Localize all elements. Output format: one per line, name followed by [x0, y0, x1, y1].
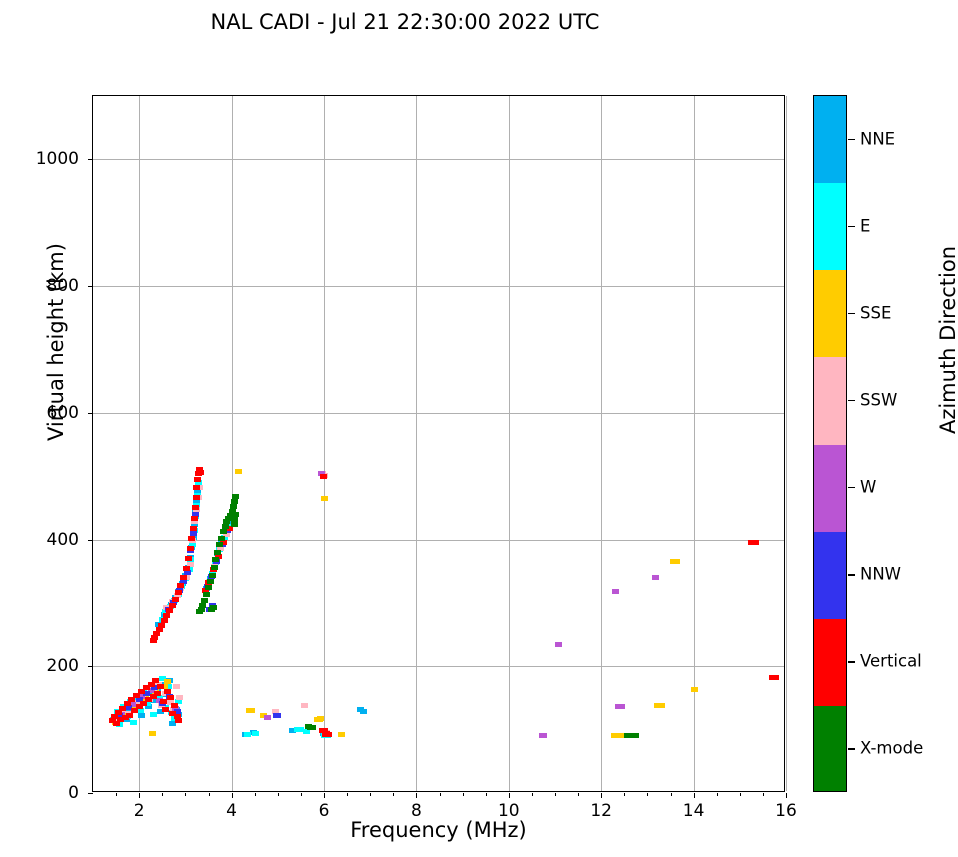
- data-point: [138, 689, 145, 694]
- colorbar-label-w: W: [860, 478, 876, 497]
- data-point: [193, 485, 200, 490]
- data-point: [227, 519, 234, 524]
- x-axis-minor-tick: [647, 793, 648, 796]
- colorbar-segment-vertical: [814, 619, 846, 706]
- data-point: [138, 694, 145, 699]
- data-point: [189, 538, 196, 543]
- data-point: [248, 708, 255, 713]
- data-point: [193, 498, 200, 503]
- data-point: [160, 699, 167, 704]
- x-axis-tick: [509, 793, 510, 798]
- data-point: [122, 713, 129, 718]
- gridline-vertical: [786, 96, 787, 791]
- data-point: [163, 605, 170, 610]
- data-point: [321, 473, 328, 478]
- data-point: [157, 684, 164, 689]
- data-point: [658, 703, 665, 708]
- data-point: [162, 609, 169, 614]
- x-axis-minor-tick: [463, 793, 464, 796]
- data-point: [628, 733, 635, 738]
- data-point: [151, 685, 158, 690]
- data-point: [133, 693, 140, 698]
- x-axis-minor-tick: [162, 793, 163, 796]
- data-point: [208, 607, 215, 612]
- data-point: [193, 495, 200, 500]
- data-point: [159, 617, 166, 622]
- data-point: [119, 706, 126, 711]
- data-point: [164, 679, 171, 684]
- colorbar-segment-w: [814, 445, 846, 532]
- data-point: [145, 697, 152, 702]
- data-point: [205, 585, 212, 590]
- data-point: [152, 689, 159, 694]
- x-axis-minor-tick: [486, 793, 487, 796]
- colorbar-tick: [848, 313, 855, 314]
- data-point: [252, 731, 259, 736]
- data-point: [224, 528, 231, 533]
- data-point: [187, 562, 194, 567]
- data-point: [177, 583, 184, 588]
- data-point: [124, 714, 131, 719]
- data-point: [197, 470, 204, 475]
- data-point: [274, 713, 281, 718]
- x-axis-minor-tick: [763, 793, 764, 796]
- data-point: [131, 708, 138, 713]
- data-point: [192, 505, 199, 510]
- data-point: [166, 694, 173, 699]
- data-point: [260, 713, 267, 718]
- data-point: [152, 678, 159, 683]
- data-point: [169, 603, 176, 608]
- data-point: [318, 471, 325, 476]
- data-point: [126, 711, 133, 716]
- data-point: [321, 728, 328, 733]
- data-point: [189, 542, 196, 547]
- data-point: [218, 536, 225, 541]
- data-point: [156, 627, 163, 632]
- data-point: [124, 701, 131, 706]
- data-point: [316, 717, 323, 722]
- data-point: [161, 684, 168, 689]
- data-point: [167, 695, 174, 700]
- gridline-vertical: [694, 96, 695, 791]
- data-point: [246, 708, 253, 713]
- data-point: [213, 559, 220, 564]
- data-point: [289, 728, 296, 733]
- plot-area: 24681012141602004006008001000: [92, 95, 785, 792]
- data-point: [117, 711, 124, 716]
- data-point: [223, 529, 230, 534]
- x-axis-minor-tick: [209, 793, 210, 796]
- data-point: [190, 531, 197, 536]
- x-axis-tick: [694, 793, 695, 798]
- data-point: [221, 535, 228, 540]
- data-point: [231, 499, 238, 504]
- data-point: [161, 612, 168, 617]
- data-point: [112, 720, 119, 725]
- x-axis-minor-tick: [301, 793, 302, 796]
- data-point: [187, 557, 194, 562]
- data-point: [338, 732, 345, 737]
- data-point: [691, 687, 698, 692]
- data-point: [320, 731, 327, 736]
- data-point: [322, 732, 329, 737]
- data-point: [129, 702, 136, 707]
- colorbar-tick: [848, 748, 855, 749]
- data-point: [186, 567, 193, 572]
- data-point: [220, 540, 227, 545]
- data-point: [769, 675, 776, 680]
- data-point: [158, 623, 165, 628]
- colorbar-segment-nnw: [814, 532, 846, 619]
- data-point: [185, 556, 192, 561]
- data-point: [177, 586, 184, 591]
- data-point: [168, 710, 175, 715]
- data-point: [150, 712, 157, 717]
- data-point: [319, 728, 326, 733]
- data-point: [209, 571, 216, 576]
- data-point: [175, 590, 182, 595]
- data-point: [180, 575, 187, 580]
- data-point: [191, 528, 198, 533]
- gridline-vertical: [509, 96, 510, 791]
- x-axis-minor-tick: [116, 793, 117, 796]
- data-point: [229, 509, 236, 514]
- data-point: [191, 519, 198, 524]
- data-point: [320, 728, 327, 733]
- y-axis-label: Virtual height (km): [44, 212, 68, 472]
- data-point: [208, 574, 215, 579]
- data-point: [125, 705, 132, 710]
- data-point: [164, 607, 171, 612]
- data-point: [153, 682, 160, 687]
- data-point: [217, 546, 224, 551]
- data-point: [155, 622, 162, 627]
- data-point: [214, 550, 221, 555]
- data-point: [264, 715, 271, 720]
- data-point: [325, 732, 332, 737]
- colorbar-tick: [848, 139, 855, 140]
- data-point: [187, 546, 194, 551]
- data-point: [150, 638, 157, 643]
- data-point: [272, 709, 279, 714]
- data-point: [141, 694, 148, 699]
- colorbar-label-e: E: [860, 216, 870, 235]
- data-point: [295, 727, 302, 732]
- data-point: [120, 704, 127, 709]
- data-point: [174, 593, 181, 598]
- x-axis-minor-tick: [717, 793, 718, 796]
- gridline-vertical: [232, 96, 233, 791]
- data-point: [615, 733, 622, 738]
- data-point: [207, 576, 214, 581]
- y-axis-tick-label: 200: [47, 656, 79, 676]
- data-point: [202, 588, 209, 593]
- data-point: [175, 712, 182, 717]
- data-point: [242, 732, 249, 737]
- x-axis-minor-tick: [185, 793, 186, 796]
- data-point: [175, 592, 182, 597]
- data-point: [232, 494, 239, 499]
- data-point: [196, 609, 203, 614]
- data-point: [624, 733, 631, 738]
- data-point: [116, 722, 123, 727]
- x-axis-minor-tick: [624, 793, 625, 796]
- data-point: [175, 699, 182, 704]
- grid-layer: [93, 96, 784, 791]
- data-point: [179, 581, 186, 586]
- data-point: [323, 732, 330, 737]
- data-point: [149, 731, 156, 736]
- data-point: [113, 715, 120, 720]
- data-point: [210, 567, 217, 572]
- x-axis-minor-tick: [440, 793, 441, 796]
- data-point: [297, 727, 304, 732]
- data-point: [182, 573, 189, 578]
- data-point: [555, 642, 562, 647]
- data-point: [207, 579, 214, 584]
- data-point: [196, 485, 203, 490]
- data-point: [188, 536, 195, 541]
- data-point: [612, 589, 619, 594]
- data-point: [139, 692, 146, 697]
- colorbar-title: Azimuth Direction: [936, 200, 958, 480]
- data-point: [138, 713, 145, 718]
- data-point: [294, 727, 301, 732]
- data-point: [188, 545, 195, 550]
- data-point: [176, 588, 183, 593]
- data-point: [157, 709, 164, 714]
- data-point: [611, 733, 618, 738]
- data-point: [314, 717, 321, 722]
- data-point: [171, 716, 178, 721]
- data-point: [163, 613, 170, 618]
- data-layer: [93, 96, 784, 791]
- colorbar-label-nne: NNE: [860, 129, 895, 148]
- data-point: [116, 713, 123, 718]
- data-point: [305, 724, 312, 729]
- data-point: [191, 516, 198, 521]
- data-point: [169, 711, 176, 716]
- data-point: [206, 607, 213, 612]
- data-point: [748, 540, 755, 545]
- data-point: [182, 576, 189, 581]
- data-point: [319, 471, 326, 476]
- data-point: [151, 635, 158, 640]
- data-point: [173, 707, 180, 712]
- data-point: [321, 728, 328, 733]
- data-point: [209, 573, 216, 578]
- data-point: [193, 503, 200, 508]
- data-point: [175, 589, 182, 594]
- colorbar-label-sse: SSE: [860, 303, 891, 322]
- data-point: [192, 514, 199, 519]
- data-point: [652, 575, 659, 580]
- data-point: [235, 469, 242, 474]
- data-point: [670, 559, 677, 564]
- gridline-horizontal: [93, 666, 784, 667]
- data-point: [148, 682, 155, 687]
- data-point: [133, 700, 140, 705]
- x-axis-minor-tick: [347, 793, 348, 796]
- x-axis-tick: [416, 793, 417, 798]
- data-point: [111, 714, 118, 719]
- x-axis-tick: [139, 793, 140, 798]
- data-point: [160, 682, 167, 687]
- data-point: [184, 570, 191, 575]
- data-point: [618, 704, 625, 709]
- data-point: [134, 695, 141, 700]
- y-axis-tick: [88, 286, 93, 287]
- ionogram-figure: NAL CADI - Jul 21 22:30:00 2022 UTC 2468…: [0, 0, 958, 857]
- data-point: [163, 692, 170, 697]
- data-point: [165, 684, 172, 689]
- data-point: [166, 608, 173, 613]
- x-axis-minor-tick: [393, 793, 394, 796]
- data-point: [176, 695, 183, 700]
- data-point: [194, 493, 201, 498]
- gridline-horizontal: [93, 540, 784, 541]
- data-point: [150, 687, 157, 692]
- data-point: [171, 703, 178, 708]
- data-point: [190, 535, 197, 540]
- data-point: [169, 599, 176, 604]
- data-point: [164, 689, 171, 694]
- data-point: [223, 519, 230, 524]
- data-point: [156, 695, 163, 700]
- data-point: [223, 532, 230, 537]
- gridline-vertical: [324, 96, 325, 791]
- y-axis-tick: [88, 666, 93, 667]
- data-point: [226, 526, 233, 531]
- colorbar-tick: [848, 400, 855, 401]
- colorbar-label-ssw: SSW: [860, 390, 897, 409]
- data-point: [206, 579, 213, 584]
- colorbar-tick: [848, 574, 855, 575]
- data-point: [147, 685, 154, 690]
- data-point: [215, 554, 222, 559]
- data-point: [159, 676, 166, 681]
- data-point: [205, 580, 212, 585]
- data-point: [136, 697, 143, 702]
- data-point: [129, 702, 136, 707]
- data-point: [174, 709, 181, 714]
- x-axis-minor-tick: [578, 793, 579, 796]
- data-point: [187, 555, 194, 560]
- data-point: [232, 512, 239, 517]
- data-point: [128, 697, 135, 702]
- colorbar-tick: [848, 226, 855, 227]
- data-point: [320, 474, 327, 479]
- x-axis-minor-tick: [370, 793, 371, 796]
- data-point: [159, 701, 166, 706]
- data-point: [168, 602, 175, 607]
- data-point: [205, 581, 212, 586]
- data-point: [194, 488, 201, 493]
- data-point: [540, 733, 547, 738]
- data-point: [203, 586, 210, 591]
- data-point: [109, 718, 116, 723]
- data-point: [162, 707, 169, 712]
- data-point: [214, 551, 221, 556]
- colorbar-tick: [848, 661, 855, 662]
- data-point: [244, 732, 251, 737]
- data-point: [216, 542, 223, 547]
- colorbar-segment-nne: [814, 96, 846, 183]
- x-axis-tick: [601, 793, 602, 798]
- data-point: [119, 708, 126, 713]
- data-point: [113, 721, 120, 726]
- data-point: [204, 584, 211, 589]
- x-axis-minor-tick: [255, 793, 256, 796]
- colorbar-label-nnw: NNW: [860, 565, 901, 584]
- data-point: [122, 715, 129, 720]
- data-point: [360, 709, 367, 714]
- data-point: [154, 687, 161, 692]
- data-point: [220, 529, 227, 534]
- data-point: [301, 703, 308, 708]
- data-point: [114, 709, 121, 714]
- colorbar-segment-x-mode: [814, 706, 846, 792]
- data-point: [155, 682, 162, 687]
- colorbar: [813, 95, 847, 792]
- data-point: [140, 690, 147, 695]
- data-point: [170, 707, 177, 712]
- data-point: [772, 675, 779, 680]
- data-point: [172, 706, 179, 711]
- data-point: [195, 480, 202, 485]
- data-point: [123, 717, 130, 722]
- data-point: [752, 540, 759, 545]
- data-point: [117, 717, 124, 722]
- x-axis-minor-tick: [278, 793, 279, 796]
- data-point: [136, 704, 143, 709]
- gridline-horizontal: [93, 286, 784, 287]
- data-point: [162, 705, 169, 710]
- data-point: [169, 721, 176, 726]
- data-point: [167, 604, 174, 609]
- data-point: [187, 548, 194, 553]
- data-point: [158, 703, 165, 708]
- data-point: [201, 598, 208, 603]
- data-point: [137, 708, 144, 713]
- data-point: [145, 704, 152, 709]
- data-point: [632, 733, 639, 738]
- gridline-vertical: [416, 96, 417, 791]
- data-point: [162, 691, 169, 696]
- data-point: [171, 598, 178, 603]
- data-point: [143, 685, 150, 690]
- data-point: [115, 710, 122, 715]
- data-point: [174, 714, 181, 719]
- data-point: [135, 698, 142, 703]
- data-point: [172, 595, 179, 600]
- colorbar-segment-e: [814, 183, 846, 270]
- y-axis-tick-label: 0: [68, 783, 79, 803]
- data-point: [198, 607, 205, 612]
- data-point: [154, 691, 161, 696]
- data-point: [127, 699, 134, 704]
- data-point: [110, 717, 117, 722]
- colorbar-label-x-mode: X-mode: [860, 739, 923, 758]
- data-point: [142, 696, 149, 701]
- data-point: [190, 526, 197, 531]
- data-point: [212, 560, 219, 565]
- data-point: [218, 538, 225, 543]
- data-point: [212, 557, 219, 562]
- data-point: [195, 471, 202, 476]
- y-axis-tick: [88, 540, 93, 541]
